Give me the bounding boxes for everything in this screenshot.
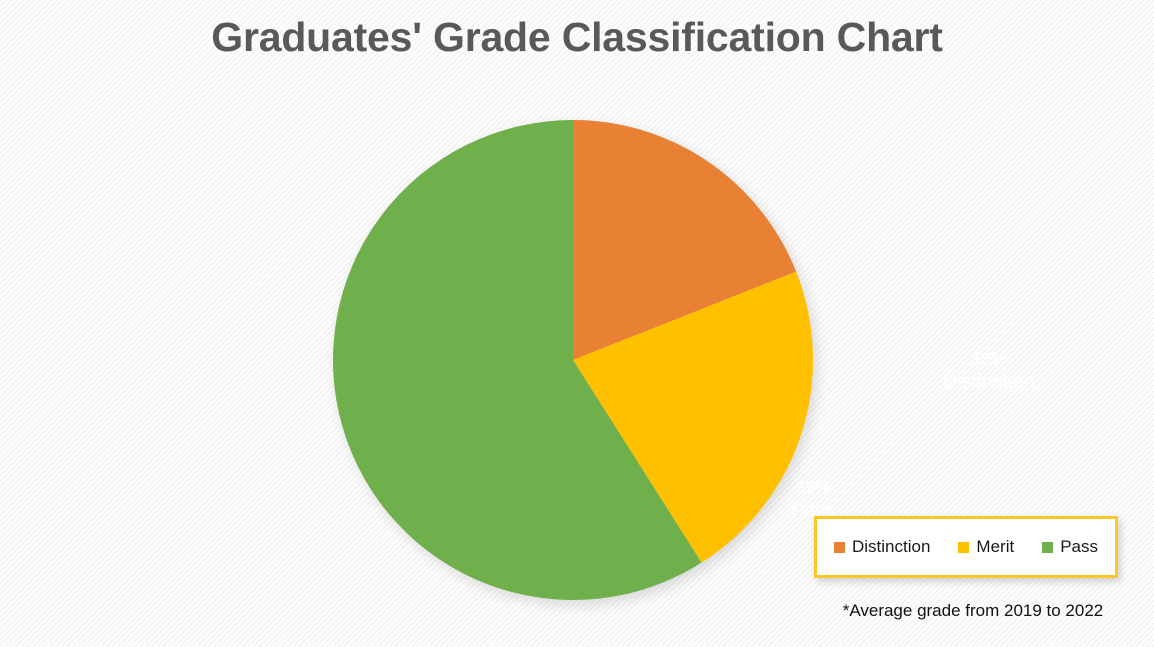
pie-label-distinction: 19% Distinction	[909, 348, 1069, 395]
chart-title: Graduates' Grade Classification Chart	[0, 14, 1154, 61]
legend-label-merit: Merit	[976, 537, 1014, 557]
pie-label-distinction-percent: 19%	[909, 348, 1069, 370]
pie-slices	[333, 120, 813, 600]
legend-swatch-pass	[1042, 542, 1053, 553]
footnote-text: *Average grade from 2019 to 2022	[814, 601, 1132, 621]
slide-canvas: Graduates Graduates' Grade Classificatio…	[0, 0, 1154, 647]
pie-label-distinction-category: Distinction	[909, 370, 1069, 396]
legend-label-distinction: Distinction	[852, 537, 930, 557]
legend-swatch-merit	[958, 542, 969, 553]
chart-legend: DistinctionMeritPass	[814, 516, 1118, 578]
clipped-text-above-title: Graduates	[0, 0, 1154, 4]
legend-entry-merit[interactable]: Merit	[958, 537, 1014, 557]
pie-chart: 19% Distinction 22% Merit 59% Pass	[333, 120, 813, 600]
legend-label-pass: Pass	[1060, 537, 1098, 557]
legend-entry-distinction[interactable]: Distinction	[834, 537, 930, 557]
pie-label-pass-percent: 59%	[757, 477, 869, 499]
legend-entry-pass[interactable]: Pass	[1042, 537, 1098, 557]
legend-swatch-distinction	[834, 542, 845, 553]
